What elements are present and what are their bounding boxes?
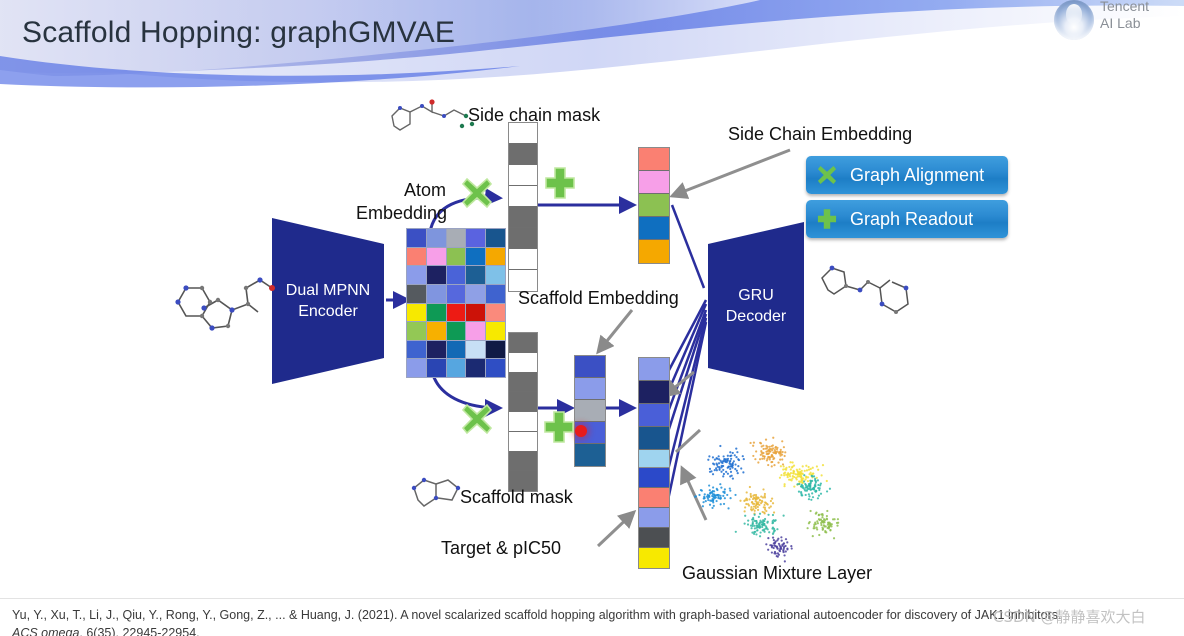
- matrix-cell-4-1: [427, 304, 446, 322]
- matrix-cell-1-0: [407, 248, 426, 266]
- cell-2: [639, 404, 669, 427]
- cell-2: [639, 508, 669, 528]
- gmm-cluster-2: [749, 437, 786, 468]
- matrix-cell-3-1: [427, 285, 446, 303]
- matrix-cell-0-3: [466, 229, 485, 247]
- decoder-shape: [706, 222, 806, 390]
- target-pic50-column: [638, 467, 670, 569]
- green-plus-icon: [816, 208, 838, 230]
- cell-4: [509, 207, 537, 228]
- cell-3: [639, 528, 669, 548]
- matrix-cell-5-0: [407, 322, 426, 340]
- matrix-cell-2-4: [486, 266, 505, 284]
- cell-0: [509, 333, 537, 353]
- encoder-shape: [270, 218, 386, 384]
- cell-0: [575, 356, 605, 378]
- input-molecule-icon: [168, 258, 286, 354]
- cell-4: [575, 444, 605, 466]
- graph-readout-plus-icon-bottom: [543, 410, 575, 444]
- matrix-cell-0-1: [427, 229, 446, 247]
- graph-readout-plus-icon-top: [544, 166, 576, 200]
- gmm-cluster-7: [807, 510, 840, 539]
- cell-3: [509, 392, 537, 412]
- label-scaffold-embedding: Scaffold Embedding: [518, 288, 679, 309]
- cell-0: [639, 358, 669, 381]
- csdn-watermark: CSDN @静静喜欢大白: [993, 606, 1146, 627]
- matrix-cell-1-1: [427, 248, 446, 266]
- gmm-cluster-6: [735, 513, 785, 538]
- cell-5: [509, 432, 537, 452]
- matrix-cell-3-2: [447, 285, 466, 303]
- matrix-cell-1-3: [466, 248, 485, 266]
- matrix-cell-7-4: [486, 359, 505, 377]
- gru-decoder-block: GRU Decoder: [706, 222, 806, 390]
- matrix-cell-6-3: [466, 341, 485, 359]
- gmm-cluster-8: [765, 536, 793, 562]
- matrix-cell-1-2: [447, 248, 466, 266]
- legend-graph-readout[interactable]: Graph Readout: [806, 200, 1008, 238]
- matrix-cell-2-3: [466, 266, 485, 284]
- graph-alignment-x-icon-bottom: [460, 402, 494, 436]
- scaffold-mask-column: [508, 332, 538, 492]
- cell-2: [575, 400, 605, 422]
- highlight-dot-icon: [575, 425, 587, 437]
- matrix-cell-6-4: [486, 341, 505, 359]
- scaffold-embedding-output-column: [638, 357, 670, 474]
- label-target-pic50: Target & pIC50: [441, 538, 561, 559]
- side-chain-mask-column: [508, 122, 538, 292]
- matrix-cell-7-0: [407, 359, 426, 377]
- cell-3: [509, 186, 537, 207]
- cell-2: [639, 194, 669, 217]
- matrix-cell-3-0: [407, 285, 426, 303]
- footer-divider: [0, 598, 1184, 599]
- output-molecule-icon: [818, 262, 924, 342]
- cell-4: [509, 412, 537, 432]
- legend-graph-alignment[interactable]: Graph Alignment: [806, 156, 1008, 194]
- cell-0: [639, 468, 669, 488]
- cell-1: [575, 378, 605, 400]
- cell-1: [509, 144, 537, 165]
- citation-text: Yu, Y., Xu, T., Li, J., Qiu, Y., Rong, Y…: [12, 606, 1082, 636]
- cell-3: [639, 427, 669, 450]
- gmm-cluster-3: [739, 486, 775, 515]
- legend-graph-alignment-label: Graph Alignment: [850, 165, 984, 186]
- label-side-chain-embedding: Side Chain Embedding: [728, 124, 912, 145]
- matrix-cell-0-2: [447, 229, 466, 247]
- side-chain-embedding-column: [638, 147, 670, 264]
- citation-journal: ACS omega: [12, 626, 79, 636]
- matrix-cell-0-0: [407, 229, 426, 247]
- label-side-chain-mask: Side chain mask: [468, 105, 600, 126]
- matrix-cell-4-2: [447, 304, 466, 322]
- matrix-cell-7-1: [427, 359, 446, 377]
- label-scaffold-mask: Scaffold mask: [460, 487, 573, 508]
- scaffold-embedding-input-column: [574, 355, 606, 467]
- side-chain-molecule-icon: [388, 96, 480, 140]
- graph-alignment-x-icon-top: [460, 176, 494, 210]
- scaffold-molecule-icon: [410, 472, 466, 514]
- cell-4: [639, 548, 669, 568]
- matrix-cell-2-2: [447, 266, 466, 284]
- cell-1: [639, 381, 669, 404]
- cell-0: [509, 123, 537, 144]
- cell-6: [509, 452, 537, 472]
- matrix-cell-5-2: [447, 322, 466, 340]
- matrix-cell-0-4: [486, 229, 505, 247]
- gaussian-mixture-scatter: [686, 430, 916, 570]
- matrix-cell-3-4: [486, 285, 505, 303]
- cell-1: [639, 488, 669, 508]
- legend-graph-readout-label: Graph Readout: [850, 209, 973, 230]
- matrix-cell-6-2: [447, 341, 466, 359]
- matrix-cell-3-3: [466, 285, 485, 303]
- matrix-cell-6-0: [407, 341, 426, 359]
- label-atom-embedding-line1: Atom: [404, 180, 446, 201]
- matrix-cell-4-0: [407, 304, 426, 322]
- cell-5: [509, 228, 537, 249]
- label-atom-embedding-line2: Embedding: [356, 203, 447, 224]
- cell-6: [509, 249, 537, 270]
- cell-2: [509, 373, 537, 393]
- matrix-cell-5-3: [466, 322, 485, 340]
- slide-canvas: Scaffold Hopping: graphGMVAE Tencent AI …: [0, 0, 1184, 636]
- citation-part-2: , 6(35), 22945-22954.: [79, 626, 199, 636]
- cell-2: [509, 165, 537, 186]
- cell-4: [639, 240, 669, 263]
- atom-embedding-matrix: [406, 228, 506, 378]
- green-x-icon: [816, 164, 838, 186]
- cell-3: [639, 217, 669, 240]
- matrix-cell-2-0: [407, 266, 426, 284]
- matrix-cell-4-4: [486, 304, 505, 322]
- matrix-cell-7-3: [466, 359, 485, 377]
- dual-mpnn-encoder-block: Dual MPNN Encoder: [270, 218, 386, 384]
- gmm-cluster-0: [707, 445, 745, 480]
- cell-1: [509, 353, 537, 373]
- gmm-cluster-1: [694, 483, 737, 509]
- cell-0: [639, 148, 669, 171]
- matrix-cell-1-4: [486, 248, 505, 266]
- matrix-cell-6-1: [427, 341, 446, 359]
- matrix-cell-5-4: [486, 322, 505, 340]
- matrix-cell-2-1: [427, 266, 446, 284]
- matrix-cell-5-1: [427, 322, 446, 340]
- matrix-cell-4-3: [466, 304, 485, 322]
- matrix-cell-7-2: [447, 359, 466, 377]
- citation-part-1: Yu, Y., Xu, T., Li, J., Qiu, Y., Rong, Y…: [12, 608, 1061, 622]
- cell-1: [639, 171, 669, 194]
